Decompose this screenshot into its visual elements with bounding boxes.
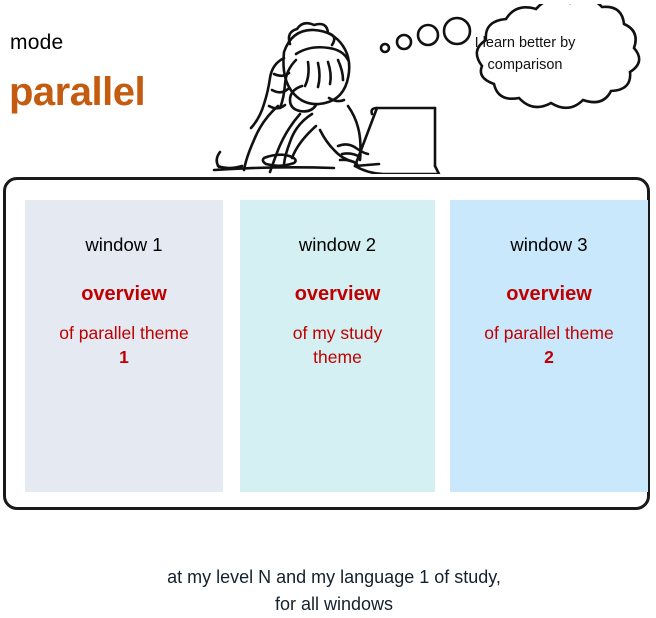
footer-line-1: at my level N and my language 1 of study… xyxy=(9,564,656,591)
window-subtitle-text-1: of parallel theme xyxy=(59,323,188,343)
window-title-2: window 2 xyxy=(240,234,435,256)
window-column-1[interactable]: window 1 overview of parallel theme 1 xyxy=(25,200,223,492)
window-column-2[interactable]: window 2 overview of my study theme xyxy=(240,200,435,492)
thought-bubble-icon xyxy=(378,4,656,150)
windows-panel: window 1 overview of parallel theme 1 wi… xyxy=(3,177,650,510)
window-overview-3: overview xyxy=(450,282,648,306)
mode-label: mode xyxy=(10,31,63,55)
bubble-line-3: comparison xyxy=(488,57,563,73)
window-overview-2: overview xyxy=(240,282,435,306)
window-subtitle-2: of my study theme xyxy=(240,321,435,369)
footer-caption: at my level N and my language 1 of study… xyxy=(9,564,656,618)
window-overview-1: overview xyxy=(25,282,223,306)
header: mode parallel xyxy=(0,0,656,178)
thought-bubble-text: I learn better by comparison xyxy=(455,32,595,76)
window-subtitle-text-2: of my study xyxy=(293,323,382,343)
window-column-3[interactable]: window 3 overview of parallel theme 2 xyxy=(450,200,648,492)
window-title-3: window 3 xyxy=(450,234,648,256)
window-subtitle-3: of parallel theme 2 xyxy=(450,321,648,369)
bubble-line-2: by xyxy=(560,35,575,51)
window-subtitle-1: of parallel theme 1 xyxy=(25,321,223,369)
window-theme-number-2: theme xyxy=(244,345,431,369)
window-title-1: window 1 xyxy=(25,234,223,256)
window-subtitle-text-3: of parallel theme xyxy=(484,323,613,343)
footer-line-2: for all windows xyxy=(9,591,656,618)
bubble-line-1: I learn better xyxy=(475,35,556,51)
window-theme-number-3: 2 xyxy=(454,345,644,369)
mode-value: parallel xyxy=(9,70,145,115)
window-theme-number-1: 1 xyxy=(29,345,219,369)
